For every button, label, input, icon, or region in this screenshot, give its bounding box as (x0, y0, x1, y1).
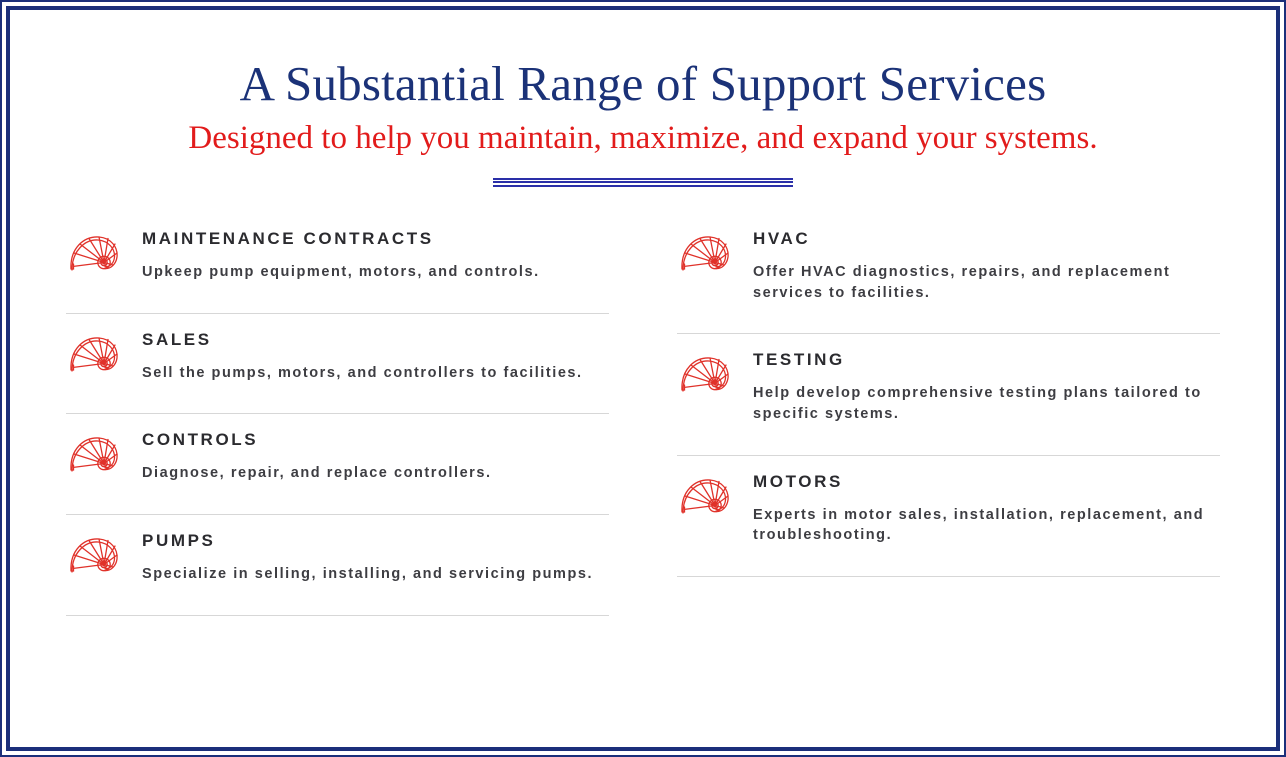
service-text: SALES Sell the pumps, motors, and contro… (142, 328, 609, 384)
service-title: HVAC (753, 229, 1220, 249)
service-title: MOTORS (753, 472, 1220, 492)
service-description: Upkeep pump equipment, motors, and contr… (142, 262, 609, 283)
service-title: TESTING (753, 350, 1220, 370)
service-description: Help develop comprehensive testing plans… (753, 383, 1220, 424)
service-title: PUMPS (142, 531, 609, 551)
service-item-pumps[interactable]: PUMPS Specialize in selling, installing,… (66, 515, 609, 616)
service-text: MOTORS Experts in motor sales, installat… (753, 470, 1220, 546)
service-text: HVAC Offer HVAC diagnostics, repairs, an… (753, 227, 1220, 303)
service-item-controls[interactable]: CONTROLS Diagnose, repair, and replace c… (66, 414, 609, 515)
service-text: TESTING Help develop comprehensive testi… (753, 348, 1220, 424)
page-header: A Substantial Range of Support Services … (10, 10, 1276, 187)
slide-body: A Substantial Range of Support Services … (10, 10, 1276, 747)
service-item-hvac[interactable]: HVAC Offer HVAC diagnostics, repairs, an… (677, 225, 1220, 334)
service-description: Diagnose, repair, and replace controller… (142, 463, 609, 484)
pump-volute-icon (66, 231, 128, 279)
page-title: A Substantial Range of Support Services (10, 58, 1276, 110)
services-grid: MAINTENANCE CONTRACTS Upkeep pump equipm… (10, 187, 1276, 615)
service-item-sales[interactable]: SALES Sell the pumps, motors, and contro… (66, 314, 609, 415)
pump-volute-icon (66, 533, 128, 581)
service-description: Sell the pumps, motors, and controllers … (142, 363, 609, 384)
pump-volute-icon (66, 432, 128, 480)
service-description: Experts in motor sales, installation, re… (753, 505, 1220, 546)
service-title: SALES (142, 330, 609, 350)
double-rule-divider-icon (493, 178, 793, 187)
service-description: Specialize in selling, installing, and s… (142, 564, 609, 585)
pump-volute-icon (66, 332, 128, 380)
services-column-left: MAINTENANCE CONTRACTS Upkeep pump equipm… (66, 225, 609, 615)
service-title: MAINTENANCE CONTRACTS (142, 229, 609, 249)
service-item-maintenance-contracts[interactable]: MAINTENANCE CONTRACTS Upkeep pump equipm… (66, 225, 609, 314)
service-description: Offer HVAC diagnostics, repairs, and rep… (753, 262, 1220, 303)
service-item-motors[interactable]: MOTORS Experts in motor sales, installat… (677, 456, 1220, 577)
pump-volute-icon (677, 231, 739, 279)
service-item-testing[interactable]: TESTING Help develop comprehensive testi… (677, 334, 1220, 455)
services-column-right: HVAC Offer HVAC diagnostics, repairs, an… (677, 225, 1220, 615)
service-text: CONTROLS Diagnose, repair, and replace c… (142, 428, 609, 484)
page-subtitle: Designed to help you maintain, maximize,… (10, 120, 1276, 156)
pump-volute-icon (677, 352, 739, 400)
pump-volute-icon (677, 474, 739, 522)
service-text: PUMPS Specialize in selling, installing,… (142, 529, 609, 585)
service-title: CONTROLS (142, 430, 609, 450)
service-text: MAINTENANCE CONTRACTS Upkeep pump equipm… (142, 227, 609, 283)
